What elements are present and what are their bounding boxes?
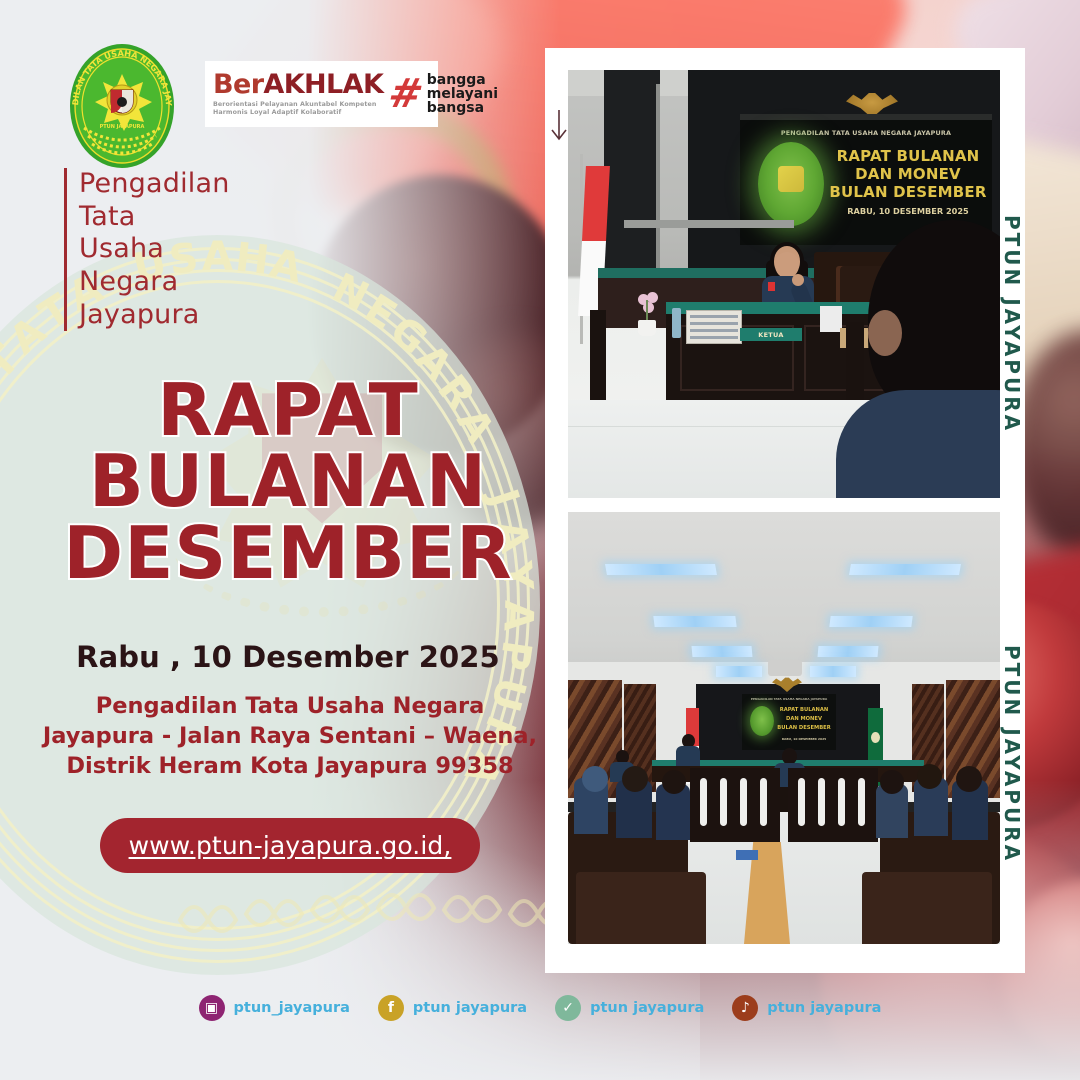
headline-line-1: RAPAT	[48, 375, 528, 446]
hash-icon: #	[385, 74, 427, 114]
social-handle: ptun jayapura	[413, 1000, 527, 1016]
photo-meeting-speaker: PENGADILAN TATA USAHA NEGARA JAYAPURA RA…	[568, 70, 1000, 498]
watermark-bow-chain	[170, 880, 590, 950]
social-item-0[interactable]: ▣ptun_jayapura	[199, 995, 350, 1021]
social-handle: ptun jayapura	[590, 1000, 704, 1016]
bangga-melayani-bangsa: bangga melayani bangsa	[427, 73, 498, 116]
website-url-label: www.ptun-jayapura.go.id,	[129, 831, 452, 860]
website-button[interactable]: www.ptun-jayapura.go.id,	[100, 818, 480, 873]
svg-text:PTUN JAYAPURA: PTUN JAYAPURA	[100, 124, 145, 130]
card-watermark-bottom: PTUN JAYAPURA	[1000, 645, 1024, 863]
event-date: Rabu , 10 Desember 2025	[48, 640, 528, 674]
card-watermark-top: PTUN JAYAPURA	[1000, 215, 1024, 433]
twitter-icon[interactable]: ✓	[555, 995, 581, 1021]
event-address: Pengadilan Tata Usaha Negara Jayapura - …	[40, 692, 540, 782]
headline-line-3: DESEMBER	[48, 518, 528, 589]
headline-line-2: BULANAN	[48, 446, 528, 517]
berakhlak-logo: BerAKHLAK Berorientasi Pelayanan Akuntab…	[205, 61, 438, 127]
projector-screen-bottom: PENGADILAN TATA USAHA NEGARA JAYAPURA RA…	[742, 694, 836, 750]
nameplate-ketua: KETUA	[740, 328, 802, 341]
tiktok-icon[interactable]: ♪	[732, 995, 758, 1021]
social-item-1[interactable]: fptun jayapura	[378, 995, 527, 1021]
social-item-3[interactable]: ♪ptun jayapura	[732, 995, 881, 1021]
social-handle: ptun jayapura	[767, 1000, 881, 1016]
social-links: ▣ptun_jayapurafptun jayapura✓ptun jayapu…	[0, 995, 1080, 1021]
social-handle: ptun_jayapura	[234, 1000, 350, 1016]
social-item-2[interactable]: ✓ptun jayapura	[555, 995, 704, 1021]
organization-name: Pengadilan Tata Usaha Negara Jayapura	[64, 168, 324, 331]
instagram-icon[interactable]: ▣	[199, 995, 225, 1021]
berakhlak-tagline: Berorientasi Pelayanan Akuntabel Kompete…	[213, 101, 383, 118]
photo-meeting-wide: PENGADILAN TATA USAHA NEGARA JAYAPURA RA…	[568, 512, 1000, 944]
berakhlak-wordmark: BerAKHLAK	[213, 71, 383, 98]
down-arrow-icon	[548, 108, 570, 142]
facebook-icon[interactable]: f	[378, 995, 404, 1021]
page-title: RAPAT BULANAN DESEMBER	[48, 375, 528, 589]
court-crest-icon: PENGADILAN TATA USAHA NEGARA JAYAPURA PT…	[58, 42, 186, 170]
poster-canvas: PENGADILAN TATA USAHA NEGARA JAYAPURA PE…	[0, 0, 1080, 1080]
